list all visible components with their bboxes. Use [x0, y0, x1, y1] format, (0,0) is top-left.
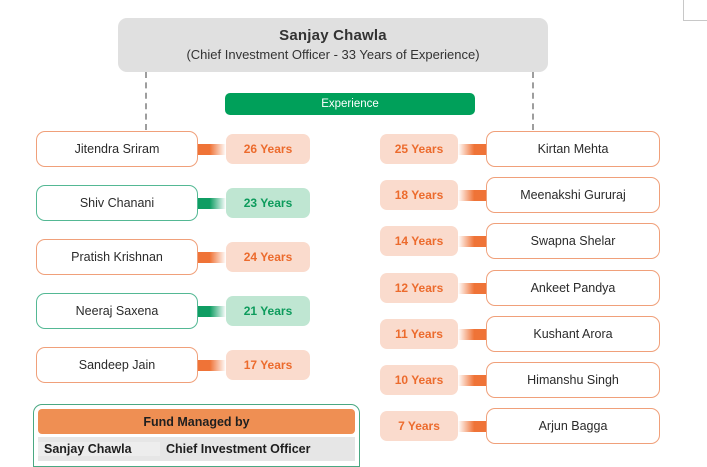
experience-badge-label: Experience — [321, 98, 379, 110]
team-member-row: Pratish Krishnan24 Years — [36, 239, 324, 275]
experience-years-pill: 23 Years — [226, 188, 310, 218]
org-chart-canvas: Sanjay Chawla (Chief Investment Officer … — [0, 0, 707, 467]
member-name-card: Kushant Arora — [486, 316, 660, 352]
cio-role: (Chief Investment Officer - 33 Years of … — [186, 46, 479, 63]
experience-years-pill: 12 Years — [380, 273, 458, 303]
team-member-row: Neeraj Saxena21 Years — [36, 293, 324, 329]
team-member-row: 12 YearsAnkeet Pandya — [380, 270, 664, 306]
connector-line-left — [145, 72, 147, 130]
fund-table-header: Fund Managed by — [38, 409, 355, 434]
member-name-card: Meenakshi Gururaj — [486, 177, 660, 213]
member-name-card: Jitendra Sriram — [36, 131, 198, 167]
member-name-card: Shiv Chanani — [36, 185, 198, 221]
experience-years-pill: 25 Years — [380, 134, 458, 164]
team-member-row: 14 YearsSwapna Shelar — [380, 223, 664, 259]
connector-line-right — [532, 72, 534, 130]
experience-years-pill: 18 Years — [380, 180, 458, 210]
member-name-card: Arjun Bagga — [486, 408, 660, 444]
member-name-card: Pratish Krishnan — [36, 239, 198, 275]
row-connector-bar — [458, 329, 486, 340]
row-connector-bar — [458, 283, 486, 294]
row-connector-bar — [198, 306, 226, 317]
experience-years-pill: 11 Years — [380, 319, 458, 349]
fund-manager-name-cell: Sanjay Chawla — [38, 442, 160, 456]
team-member-row: 10 YearsHimanshu Singh — [380, 362, 664, 398]
experience-years-pill: 21 Years — [226, 296, 310, 326]
page-corner-mark-vertical — [683, 0, 684, 20]
experience-years-pill: 14 Years — [380, 226, 458, 256]
row-connector-bar — [458, 190, 486, 201]
table-row: Sanjay ChawlaChief Investment Officer — [38, 437, 355, 461]
chief-investment-officer-banner: Sanjay Chawla (Chief Investment Officer … — [118, 18, 548, 72]
fund-manager-designation-cell: Chief Investment Officer — [160, 442, 355, 456]
row-connector-bar — [458, 236, 486, 247]
team-member-row: Jitendra Sriram26 Years — [36, 131, 324, 167]
experience-years-pill: 24 Years — [226, 242, 310, 272]
experience-badge: Experience — [225, 93, 475, 115]
row-connector-bar — [458, 421, 486, 432]
experience-years-pill: 17 Years — [226, 350, 310, 380]
cio-name: Sanjay Chawla — [279, 27, 387, 45]
member-name-card: Swapna Shelar — [486, 223, 660, 259]
row-connector-bar — [458, 144, 486, 155]
team-member-row: 25 YearsKirtan Mehta — [380, 131, 664, 167]
page-corner-mark-horizontal — [683, 20, 707, 21]
row-connector-bar — [198, 144, 226, 155]
team-member-row: 11 YearsKushant Arora — [380, 316, 664, 352]
team-member-row: Sandeep Jain17 Years — [36, 347, 324, 383]
team-member-row: Shiv Chanani23 Years — [36, 185, 324, 221]
experience-years-pill: 10 Years — [380, 365, 458, 395]
member-name-card: Sandeep Jain — [36, 347, 198, 383]
row-connector-bar — [198, 198, 226, 209]
fund-table-body: Sanjay ChawlaChief Investment Officer — [38, 437, 355, 461]
experience-years-pill: 7 Years — [380, 411, 458, 441]
team-member-row: 7 YearsArjun Bagga — [380, 408, 664, 444]
fund-managed-by-table: Fund Managed by Sanjay ChawlaChief Inves… — [33, 404, 360, 467]
member-name-card: Ankeet Pandya — [486, 270, 660, 306]
member-name-card: Himanshu Singh — [486, 362, 660, 398]
row-connector-bar — [458, 375, 486, 386]
member-name-card: Neeraj Saxena — [36, 293, 198, 329]
team-member-row: 18 YearsMeenakshi Gururaj — [380, 177, 664, 213]
member-name-card: Kirtan Mehta — [486, 131, 660, 167]
experience-years-pill: 26 Years — [226, 134, 310, 164]
row-connector-bar — [198, 252, 226, 263]
row-connector-bar — [198, 360, 226, 371]
